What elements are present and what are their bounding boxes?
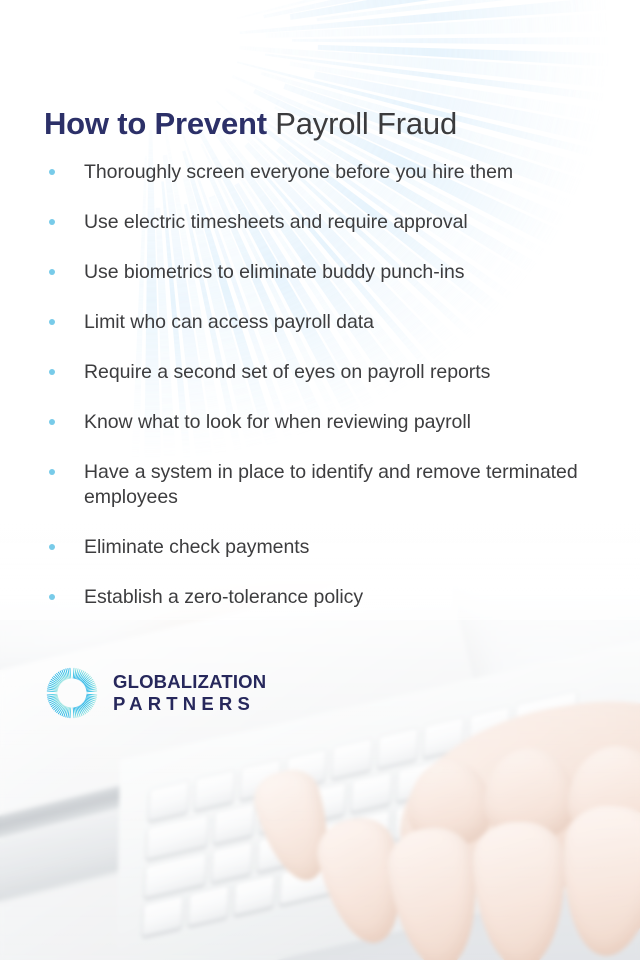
bullet-dot-icon xyxy=(49,469,55,475)
poster-content: How to Prevent Payroll Fraud Thoroughly … xyxy=(0,0,640,960)
logo-spoke xyxy=(47,694,58,695)
bullet-dot-icon xyxy=(49,319,55,325)
logo-spoke xyxy=(87,694,98,695)
bullet-dot-icon xyxy=(49,269,55,275)
bullet-dot-icon xyxy=(49,369,55,375)
list-item: Know what to look for when reviewing pay… xyxy=(44,410,596,435)
page-title-remainder: Payroll Fraud xyxy=(267,106,457,141)
logo-spoke xyxy=(47,691,58,692)
logo-spoke xyxy=(70,708,71,719)
list-item-label: Require a second set of eyes on payroll … xyxy=(84,361,490,383)
globalization-partners-ring-icon xyxy=(44,665,100,721)
bullet-dot-icon xyxy=(49,544,55,550)
brand-logo: GLOBALIZATION PARTNERS xyxy=(44,665,266,721)
list-item: Thoroughly screen everyone before you hi… xyxy=(44,160,596,185)
list-item-label: Know what to look for when reviewing pay… xyxy=(84,411,471,433)
brand-name-line1: GLOBALIZATION xyxy=(113,673,266,692)
page-title-emphasis: How to Prevent xyxy=(44,106,267,141)
list-item-label: Have a system in place to identify and r… xyxy=(84,461,578,508)
page-title: How to Prevent Payroll Fraud xyxy=(44,104,457,144)
list-item: Eliminate check payments xyxy=(44,535,596,560)
brand-wordmark: GLOBALIZATION PARTNERS xyxy=(113,673,266,714)
bullet-dot-icon xyxy=(49,169,55,175)
list-item-label: Use biometrics to eliminate buddy punch-… xyxy=(84,261,464,283)
logo-spoke xyxy=(73,708,74,719)
prevention-tips-list: Thoroughly screen everyone before you hi… xyxy=(44,160,596,610)
brand-name-line2: PARTNERS xyxy=(113,695,266,714)
logo-spoke xyxy=(87,691,98,692)
list-item: Use biometrics to eliminate buddy punch-… xyxy=(44,260,596,285)
bullet-dot-icon xyxy=(49,219,55,225)
list-item-label: Establish a zero-tolerance policy xyxy=(84,586,363,608)
infographic-poster: How to Prevent Payroll Fraud Thoroughly … xyxy=(0,0,640,960)
list-item: Have a system in place to identify and r… xyxy=(44,460,596,510)
list-item-label: Use electric timesheets and require appr… xyxy=(84,211,468,233)
list-item: Limit who can access payroll data xyxy=(44,310,596,335)
list-item-label: Limit who can access payroll data xyxy=(84,311,374,333)
bullet-dot-icon xyxy=(49,594,55,600)
list-item-label: Eliminate check payments xyxy=(84,536,309,558)
logo-spoke xyxy=(70,668,71,679)
list-item: Use electric timesheets and require appr… xyxy=(44,210,596,235)
logo-spoke xyxy=(73,668,74,679)
list-item: Establish a zero-tolerance policy xyxy=(44,585,596,610)
list-item-label: Thoroughly screen everyone before you hi… xyxy=(84,161,513,183)
list-item: Require a second set of eyes on payroll … xyxy=(44,360,596,385)
bullet-dot-icon xyxy=(49,419,55,425)
